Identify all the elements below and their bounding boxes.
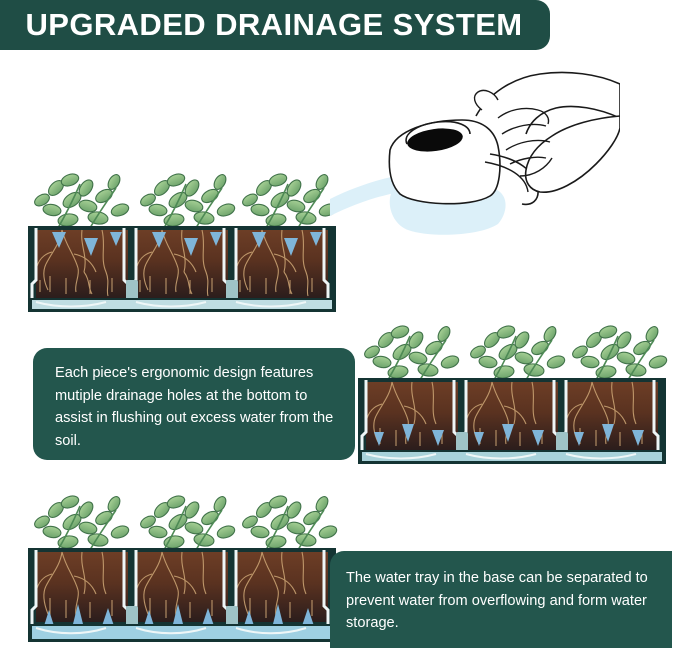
water-stream: [330, 176, 400, 216]
watering-can-illustration: [330, 58, 620, 243]
page-title: UPGRADED DRAINAGE SYSTEM: [13, 7, 522, 43]
callout-drainage-holes: Each piece's ergonomic design features m…: [33, 348, 355, 460]
callout-water-tray-text: The water tray in the base can be separa…: [346, 567, 658, 635]
planter-middle: [352, 312, 672, 472]
tray-inner: [362, 452, 662, 461]
tray-inner: [32, 300, 332, 309]
planter-bottom: [22, 482, 342, 648]
foliage-bottom-row: [33, 494, 339, 550]
callout-drainage-holes-text: Each piece's ergonomic design features m…: [55, 362, 339, 452]
callout-water-tray: The water tray in the base can be separa…: [330, 551, 672, 648]
infographic-canvas: UPGRADED DRAINAGE SYSTEM: [0, 0, 679, 648]
foliage-top-row: [33, 172, 339, 228]
header-banner: UPGRADED DRAINAGE SYSTEM: [0, 0, 550, 50]
planter-top: [22, 160, 342, 320]
foliage-middle-row: [363, 324, 669, 380]
